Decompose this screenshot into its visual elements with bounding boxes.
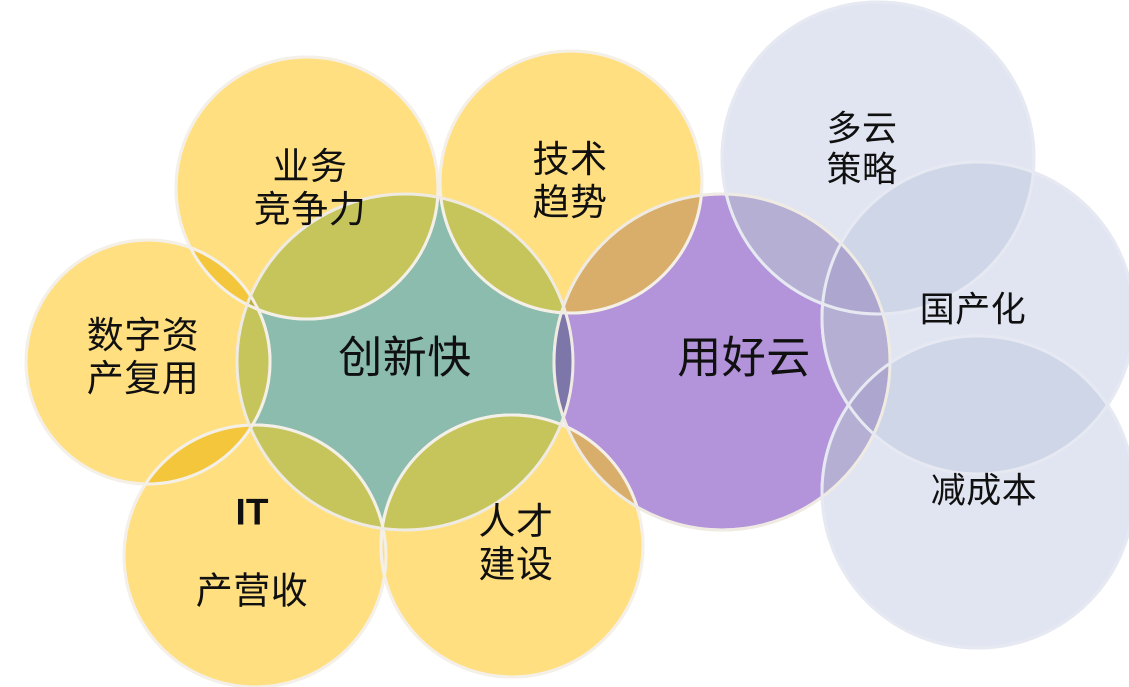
- venn-diagram-shapes: [0, 0, 1129, 687]
- venn-diagram-canvas: 创新快 用好云 业务 竞争力 技术 趋势 数字资 产复用 IT 产营收 人才 建…: [0, 0, 1129, 687]
